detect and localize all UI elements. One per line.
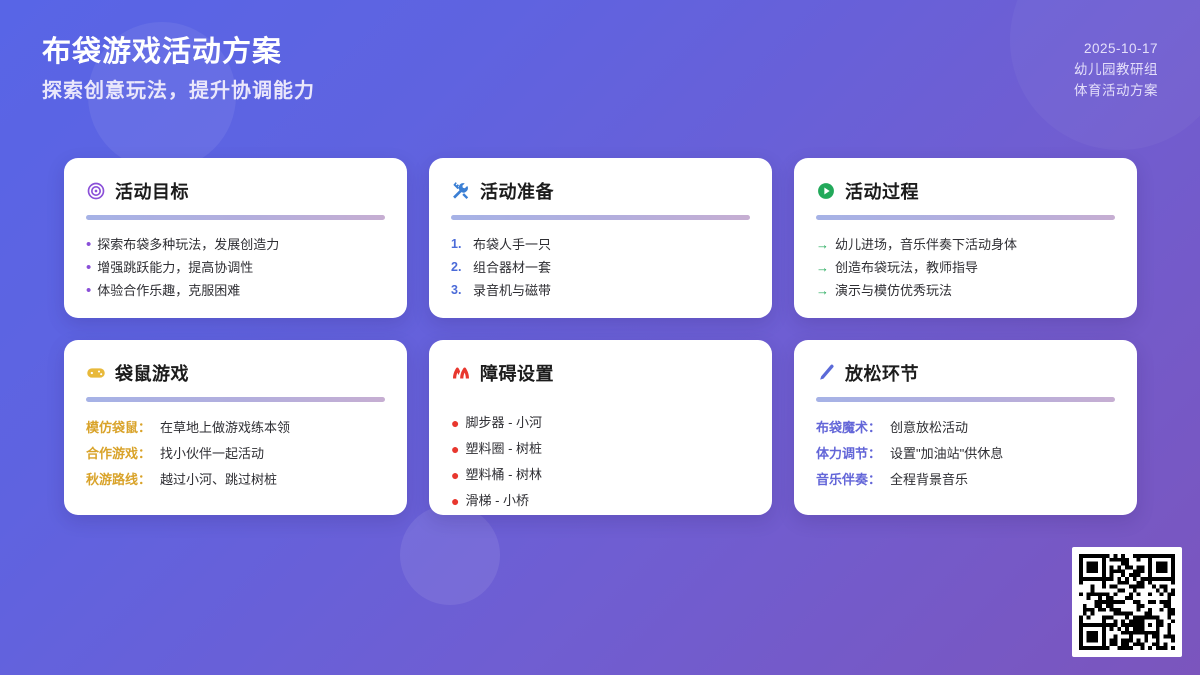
arrow-right-icon: → (816, 233, 829, 256)
card-body: 1.布袋人手一只2.组合器材一套3.录音机与磁带 (451, 233, 750, 302)
kv-key: 模仿袋鼠： (86, 415, 151, 441)
bullet-dot-icon: • (86, 279, 91, 302)
decorative-circle-bottom (400, 505, 500, 605)
card-4: 袋鼠游戏模仿袋鼠：在草地上做游戏练本领合作游戏：找小伙伴一起活动秋游路线：越过小… (64, 340, 407, 515)
list-item: →创造布袋玩法，教师指导 (816, 256, 1115, 279)
meta-date: 2025-10-17 (1074, 38, 1158, 59)
card-title: 放松环节 (845, 360, 919, 386)
list-number: 3. (451, 279, 467, 302)
card-header: 障碍设置 (451, 360, 750, 386)
meta-org: 幼儿园教研组 (1074, 59, 1158, 80)
title-block: 布袋游戏活动方案 探索创意玩法，提升协调能力 (42, 38, 315, 101)
arrow-right-icon: → (816, 256, 829, 279)
card-title: 活动准备 (480, 178, 554, 204)
list-item: 1.布袋人手一只 (451, 233, 750, 256)
red-dot-icon: ● (451, 488, 459, 514)
card-divider (86, 397, 385, 402)
list-item: 模仿袋鼠：在草地上做游戏练本领 (86, 415, 385, 441)
kv-key: 秋游路线： (86, 467, 151, 493)
tools-icon (451, 181, 471, 201)
kv-key: 体力调节： (816, 441, 881, 467)
slide-root: 布袋游戏活动方案 探索创意玩法，提升协调能力 2025-10-17 幼儿园教研组… (0, 0, 1200, 675)
list-item: 布袋魔术：创意放松活动 (816, 415, 1115, 441)
target-icon (86, 181, 106, 201)
card-divider (816, 215, 1115, 220)
list-item-text: 探索布袋多种玩法，发展创造力 (97, 233, 279, 256)
list-item-text: 幼儿进场，音乐伴奏下活动身体 (835, 233, 1017, 256)
card-grid: 活动目标•探索布袋多种玩法，发展创造力•增强跳跃能力，提高协调性•体验合作乐趣，… (64, 158, 1138, 500)
list-item: •增强跳跃能力，提高协调性 (86, 256, 385, 279)
card-body: ●脚步器 - 小河●塑料圈 - 树桩●塑料桶 - 树林●滑梯 - 小桥 (451, 410, 750, 514)
meta-category: 体育活动方案 (1074, 80, 1158, 101)
kv-value: 在草地上做游戏练本领 (160, 415, 290, 441)
gamepad-icon (86, 363, 106, 383)
card-header: 放松环节 (816, 360, 1115, 386)
card-3: 活动过程→幼儿进场，音乐伴奏下活动身体→创造布袋玩法，教师指导→演示与模仿优秀玩… (794, 158, 1137, 318)
list-item-text: 创造布袋玩法，教师指导 (835, 256, 978, 279)
card-body: 模仿袋鼠：在草地上做游戏练本领合作游戏：找小伙伴一起活动秋游路线：越过小河、跳过… (86, 415, 385, 493)
header-meta: 2025-10-17 幼儿园教研组 体育活动方案 (1074, 38, 1158, 101)
list-item: 3.录音机与磁带 (451, 279, 750, 302)
slide-header: 布袋游戏活动方案 探索创意玩法，提升协调能力 2025-10-17 幼儿园教研组… (0, 0, 1200, 140)
card-title: 活动目标 (115, 178, 189, 204)
red-dot-icon: ● (451, 436, 459, 462)
kv-key: 音乐伴奏： (816, 467, 881, 493)
list-item: ●脚步器 - 小河 (451, 410, 750, 436)
list-item: •体验合作乐趣，克服困难 (86, 279, 385, 302)
list-item-text: 脚步器 - 小河 (465, 410, 542, 436)
card-title: 障碍设置 (480, 360, 554, 386)
play-circle-icon (816, 181, 836, 201)
list-item-text: 塑料桶 - 树林 (465, 462, 542, 488)
kv-value: 创意放松活动 (890, 415, 968, 441)
list-item-text: 录音机与磁带 (473, 279, 551, 302)
list-number: 2. (451, 256, 467, 279)
list-item: 音乐伴奏：全程背景音乐 (816, 467, 1115, 493)
qr-code-container[interactable] (1072, 547, 1182, 657)
card-6: 放松环节布袋魔术：创意放松活动体力调节：设置"加油站"供休息音乐伴奏：全程背景音… (794, 340, 1137, 515)
bullet-dot-icon: • (86, 256, 91, 279)
list-item: 2.组合器材一套 (451, 256, 750, 279)
pencil-icon (816, 363, 836, 383)
list-item-text: 组合器材一套 (473, 256, 551, 279)
red-dot-icon: ● (451, 462, 459, 488)
list-item-text: 塑料圈 - 树桩 (465, 436, 542, 462)
list-item: ●塑料桶 - 树林 (451, 462, 750, 488)
card-body: →幼儿进场，音乐伴奏下活动身体→创造布袋玩法，教师指导→演示与模仿优秀玩法 (816, 233, 1115, 302)
list-item: ●塑料圈 - 树桩 (451, 436, 750, 462)
arrow-right-icon: → (816, 279, 829, 302)
red-dot-icon: ● (451, 410, 459, 436)
card-divider (86, 215, 385, 220)
list-item: →演示与模仿优秀玩法 (816, 279, 1115, 302)
list-item: 秋游路线：越过小河、跳过树桩 (86, 467, 385, 493)
list-item: ●滑梯 - 小桥 (451, 488, 750, 514)
kv-value: 设置"加油站"供休息 (890, 441, 1003, 467)
list-item-text: 滑梯 - 小桥 (465, 488, 529, 514)
card-1: 活动目标•探索布袋多种玩法，发展创造力•增强跳跃能力，提高协调性•体验合作乐趣，… (64, 158, 407, 318)
card-header: 袋鼠游戏 (86, 360, 385, 386)
kv-value: 全程背景音乐 (890, 467, 968, 493)
list-item: 合作游戏：找小伙伴一起活动 (86, 441, 385, 467)
card-divider (816, 397, 1115, 402)
bullet-dot-icon: • (86, 233, 91, 256)
list-item: 体力调节：设置"加油站"供休息 (816, 441, 1115, 467)
card-header: 活动目标 (86, 178, 385, 204)
card-title: 袋鼠游戏 (115, 360, 189, 386)
card-divider (451, 215, 750, 220)
kv-value: 找小伙伴一起活动 (160, 441, 264, 467)
card-body: •探索布袋多种玩法，发展创造力•增强跳跃能力，提高协调性•体验合作乐趣，克服困难 (86, 233, 385, 302)
card-5: 障碍设置●脚步器 - 小河●塑料圈 - 树桩●塑料桶 - 树林●滑梯 - 小桥 (429, 340, 772, 515)
list-number: 1. (451, 233, 467, 256)
list-item: →幼儿进场，音乐伴奏下活动身体 (816, 233, 1115, 256)
list-item-text: 增强跳跃能力，提高协调性 (97, 256, 253, 279)
card-body: 布袋魔术：创意放松活动体力调节：设置"加油站"供休息音乐伴奏：全程背景音乐 (816, 415, 1115, 493)
card-header: 活动准备 (451, 178, 750, 204)
card-title: 活动过程 (845, 178, 919, 204)
card-header: 活动过程 (816, 178, 1115, 204)
kv-key: 合作游戏： (86, 441, 151, 467)
kv-value: 越过小河、跳过树桩 (160, 467, 277, 493)
page-title: 布袋游戏活动方案 (42, 38, 315, 67)
list-item-text: 布袋人手一只 (473, 233, 551, 256)
list-item-text: 体验合作乐趣，克服困难 (97, 279, 240, 302)
mountain-icon (451, 363, 471, 383)
kv-key: 布袋魔术： (816, 415, 881, 441)
list-item-text: 演示与模仿优秀玩法 (835, 279, 952, 302)
list-item: •探索布袋多种玩法，发展创造力 (86, 233, 385, 256)
qr-code (1079, 554, 1175, 650)
card-2: 活动准备1.布袋人手一只2.组合器材一套3.录音机与磁带 (429, 158, 772, 318)
page-subtitle: 探索创意玩法，提升协调能力 (42, 81, 315, 101)
